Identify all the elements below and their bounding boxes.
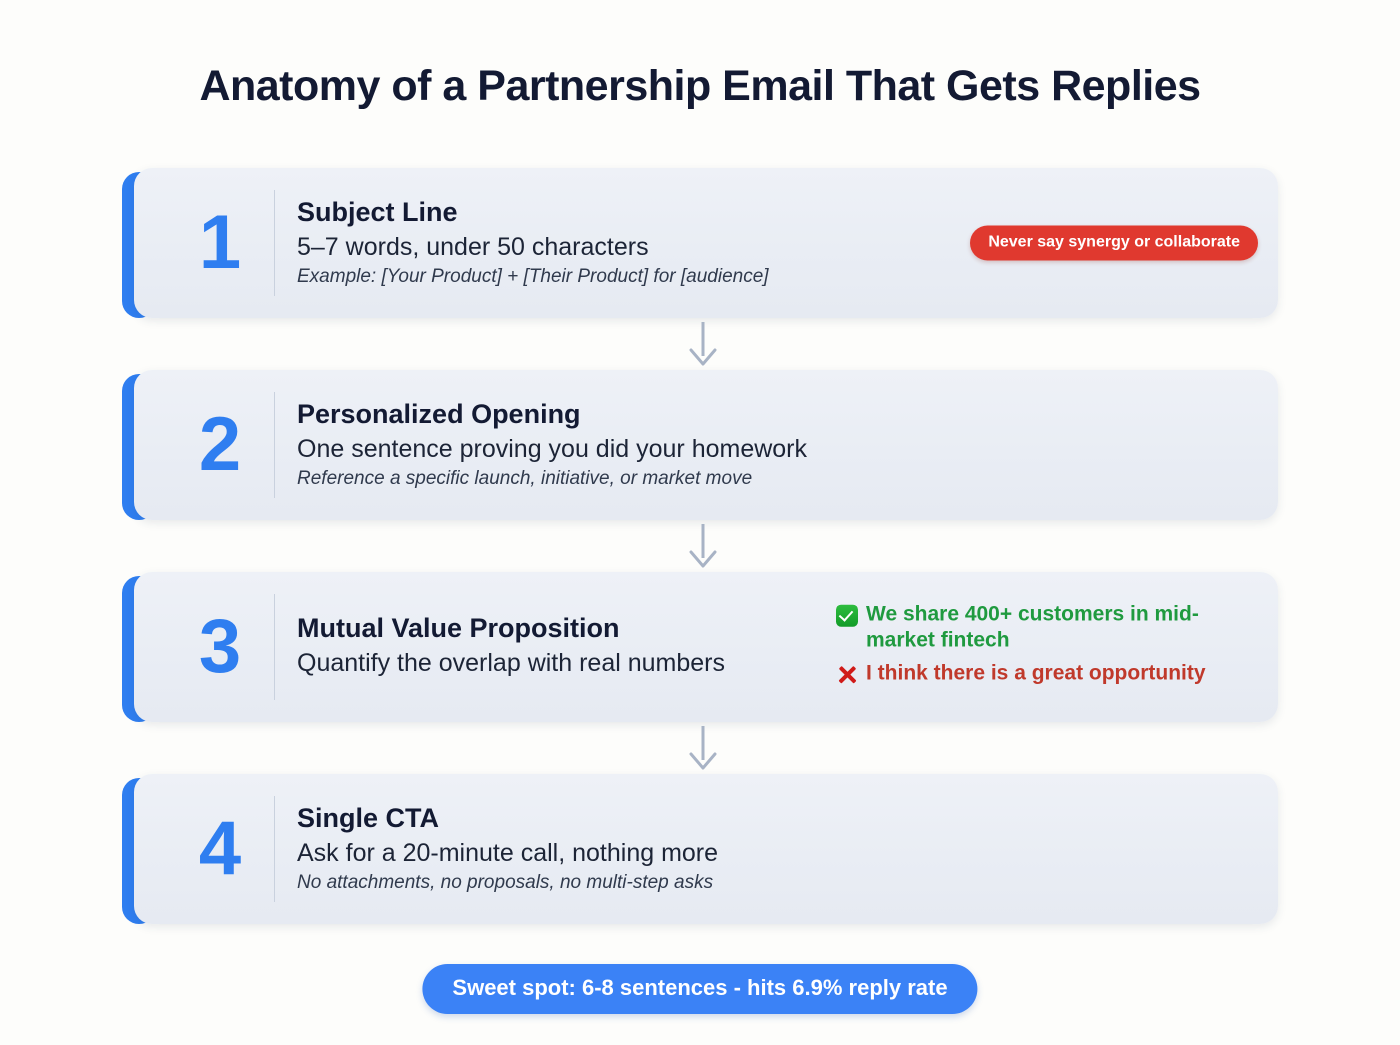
step-divider: [274, 392, 275, 498]
step-card-1: 1 Subject Line 5–7 words, under 50 chara…: [122, 168, 1278, 318]
step-content: Personalized Opening One sentence provin…: [297, 370, 1268, 520]
example-comparison: We share 400+ customers in mid-market fi…: [836, 602, 1256, 693]
arrow-down-icon: [685, 524, 721, 570]
step-heading: Single CTA: [297, 803, 1268, 835]
bad-example-row: I think there is a great opportunity: [836, 661, 1256, 692]
step-content: Single CTA Ask for a 20-minute call, not…: [297, 774, 1268, 924]
bad-example-text: I think there is a great opportunity: [866, 661, 1206, 687]
step-number: 4: [174, 811, 266, 887]
cross-icon: [836, 661, 858, 692]
check-icon: [836, 602, 858, 633]
step-subtitle: One sentence proving you did your homewo…: [297, 434, 1268, 465]
step-divider: [274, 796, 275, 902]
step-heading: Subject Line: [297, 197, 1268, 229]
step-card-body: 1 Subject Line 5–7 words, under 50 chara…: [134, 168, 1278, 318]
step-note: No attachments, no proposals, no multi-s…: [297, 871, 1268, 895]
infographic-page: Anatomy of a Partnership Email That Gets…: [0, 0, 1400, 1045]
step-subtitle: Ask for a 20-minute call, nothing more: [297, 838, 1268, 869]
step-number: 2: [174, 407, 266, 483]
step-number: 1: [174, 205, 266, 281]
good-example-text: We share 400+ customers in mid-market fi…: [866, 602, 1256, 653]
step-card-3: 3 Mutual Value Proposition Quantify the …: [122, 572, 1278, 722]
arrow-down-icon: [685, 726, 721, 772]
step-card-4: 4 Single CTA Ask for a 20-minute call, n…: [122, 774, 1278, 924]
step-card-body: 4 Single CTA Ask for a 20-minute call, n…: [134, 774, 1278, 924]
step-card-2: 2 Personalized Opening One sentence prov…: [122, 370, 1278, 520]
step-card-body: 3 Mutual Value Proposition Quantify the …: [134, 572, 1278, 722]
step-note: Reference a specific launch, initiative,…: [297, 467, 1268, 491]
warning-badge: Never say synergy or collaborate: [970, 226, 1258, 261]
page-title: Anatomy of a Partnership Email That Gets…: [0, 62, 1400, 111]
arrow-down-icon: [685, 322, 721, 368]
step-divider: [274, 594, 275, 700]
step-heading: Personalized Opening: [297, 399, 1268, 431]
step-number: 3: [174, 609, 266, 685]
footer-summary-badge: Sweet spot: 6-8 sentences - hits 6.9% re…: [422, 964, 977, 1014]
good-example-row: We share 400+ customers in mid-market fi…: [836, 602, 1256, 653]
step-divider: [274, 190, 275, 296]
step-note: Example: [Your Product] + [Their Product…: [297, 265, 1268, 289]
step-card-body: 2 Personalized Opening One sentence prov…: [134, 370, 1278, 520]
